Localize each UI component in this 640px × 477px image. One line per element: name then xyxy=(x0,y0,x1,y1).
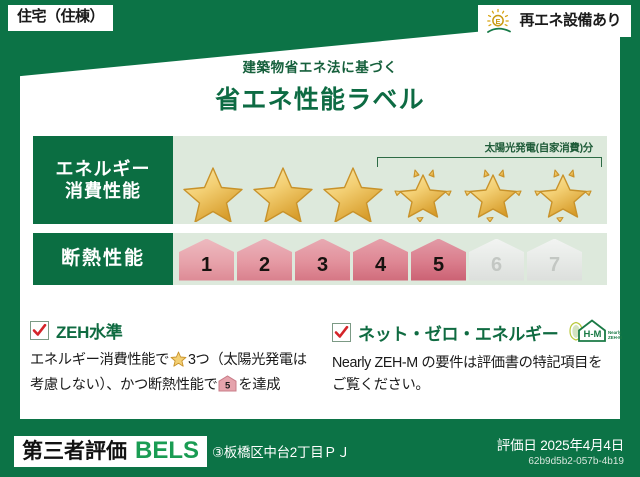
note-text-part1: Nearly ZEH-M の要件は評価書の特記項目をご覧ください。 xyxy=(332,355,602,393)
notes-section: ZEH水準 エネルギー消費性能で 3つ（太陽光発電は考慮しない）、かつ断熱性能で… xyxy=(30,318,614,399)
svg-text:H-M: H-M xyxy=(584,329,602,340)
note-title: ZEH水準 xyxy=(56,318,123,343)
note-net-zero-energy: ネット・ゼロ・エネルギー H-M Nearly ZEH-M Nearly ZEH… xyxy=(332,318,614,399)
sun-icon: E xyxy=(484,8,514,34)
grade-value: 4 xyxy=(375,255,386,281)
insulation-rating-panel: 1 2 3 4 5 xyxy=(173,233,607,285)
evaluation-uid: 62b9d5b2-057b-4b19 xyxy=(497,456,624,467)
star-icon xyxy=(170,351,187,374)
star-rating xyxy=(173,160,607,222)
building-type-label: 住宅（住棟） xyxy=(17,8,104,25)
grade-value: 1 xyxy=(201,255,212,281)
grade-badge: 1 xyxy=(179,239,234,281)
grade-badge: 2 xyxy=(237,239,292,281)
grade-badges: 1 2 3 4 5 xyxy=(179,238,603,281)
renewable-equipment-badge: E 再エネ設備あり xyxy=(478,5,631,37)
evaluation-info: 評価日 2025年4月4日 62b9d5b2-057b-4b19 xyxy=(497,434,624,467)
check-icon xyxy=(30,321,49,340)
grade-value: 3 xyxy=(317,255,328,281)
metrics: エネルギー 消費性能 太陽光発電(自家消費)分 xyxy=(33,136,607,285)
grade-value: 7 xyxy=(549,255,560,281)
evaluation-date-value: 2025年4月4日 xyxy=(540,438,624,453)
note-body: Nearly ZEH-M の要件は評価書の特記項目をご覧ください。 xyxy=(332,352,614,396)
star-icon xyxy=(319,160,387,222)
svg-text:E: E xyxy=(496,17,501,26)
note-title: ネット・ゼロ・エネルギー xyxy=(358,320,558,345)
energy-performance-label: 住宅（住棟） E 再エネ設備あり xyxy=(0,0,640,477)
pv-bracket-label: 太陽光発電(自家消費)分 xyxy=(485,140,593,155)
grade-badge: 4 xyxy=(353,239,408,281)
star-icon xyxy=(249,160,317,222)
energy-performance-row: エネルギー 消費性能 太陽光発電(自家消費)分 xyxy=(33,136,607,224)
check-icon xyxy=(332,323,351,342)
insulation-performance-label: 断熱性能 xyxy=(33,233,173,285)
note-header: ZEH水準 xyxy=(30,318,312,343)
grade-value: 5 xyxy=(433,255,444,281)
grade-badge: 7 xyxy=(527,239,582,281)
evaluation-date-label: 評価日 xyxy=(497,438,537,453)
energy-performance-label: エネルギー 消費性能 xyxy=(33,136,173,224)
energy-rating-panel: 太陽光発電(自家消費)分 xyxy=(173,136,607,224)
grade-value: 2 xyxy=(259,255,270,281)
grade-badge: 6 xyxy=(469,239,524,281)
page-title: 省エネ性能ラベル xyxy=(0,80,640,116)
star-icon xyxy=(179,160,247,222)
bels-label-en: BELS xyxy=(135,439,199,463)
energy-label-line2: 消費性能 xyxy=(65,180,141,203)
note-header: ネット・ゼロ・エネルギー H-M Nearly ZEH-M xyxy=(332,318,614,346)
renewable-badge-label: 再エネ設備あり xyxy=(519,13,621,30)
evaluation-date: 評価日 2025年4月4日 xyxy=(497,434,624,454)
energy-label-line1: エネルギー xyxy=(56,158,151,181)
bels-badge: 第三者評価 BELS xyxy=(14,436,207,467)
svg-text:ZEH-M: ZEH-M xyxy=(608,335,622,340)
note-text-part3: を達成 xyxy=(238,377,280,393)
star-pv-icon xyxy=(389,160,457,222)
insulation-label-line1: 断熱性能 xyxy=(61,247,145,271)
insulation-performance-row: 断熱性能 1 2 3 xyxy=(33,233,607,285)
grade-value: 6 xyxy=(491,255,502,281)
footer: 第三者評価 BELS ③板橋区中台2丁目ＰＪ 評価日 2025年4月4日 62b… xyxy=(0,419,640,477)
star-pv-icon xyxy=(459,160,527,222)
property-address: ③板橋区中台2丁目ＰＪ xyxy=(212,441,350,461)
grade-badge: 3 xyxy=(295,239,350,281)
note-text-part1: エネルギー消費性能で xyxy=(30,352,169,368)
building-type-tag: 住宅（住棟） xyxy=(8,5,113,31)
note-body: エネルギー消費性能で 3つ（太陽光発電は考慮しない）、かつ断熱性能で 5 を達成 xyxy=(30,349,312,399)
nearly-zeh-m-house-icon: H-M Nearly ZEH-M xyxy=(567,318,625,346)
title-block: 建築物省エネ法に基づく 省エネ性能ラベル xyxy=(0,56,640,116)
grade-5-badge-icon: 5 xyxy=(218,375,237,399)
grade-badge: 5 xyxy=(411,239,466,281)
star-pv-icon xyxy=(529,160,597,222)
note-zeh-level: ZEH水準 エネルギー消費性能で 3つ（太陽光発電は考慮しない）、かつ断熱性能で… xyxy=(30,318,312,399)
bels-label-ja: 第三者評価 xyxy=(22,441,127,462)
title-subtitle: 建築物省エネ法に基づく xyxy=(0,56,640,76)
